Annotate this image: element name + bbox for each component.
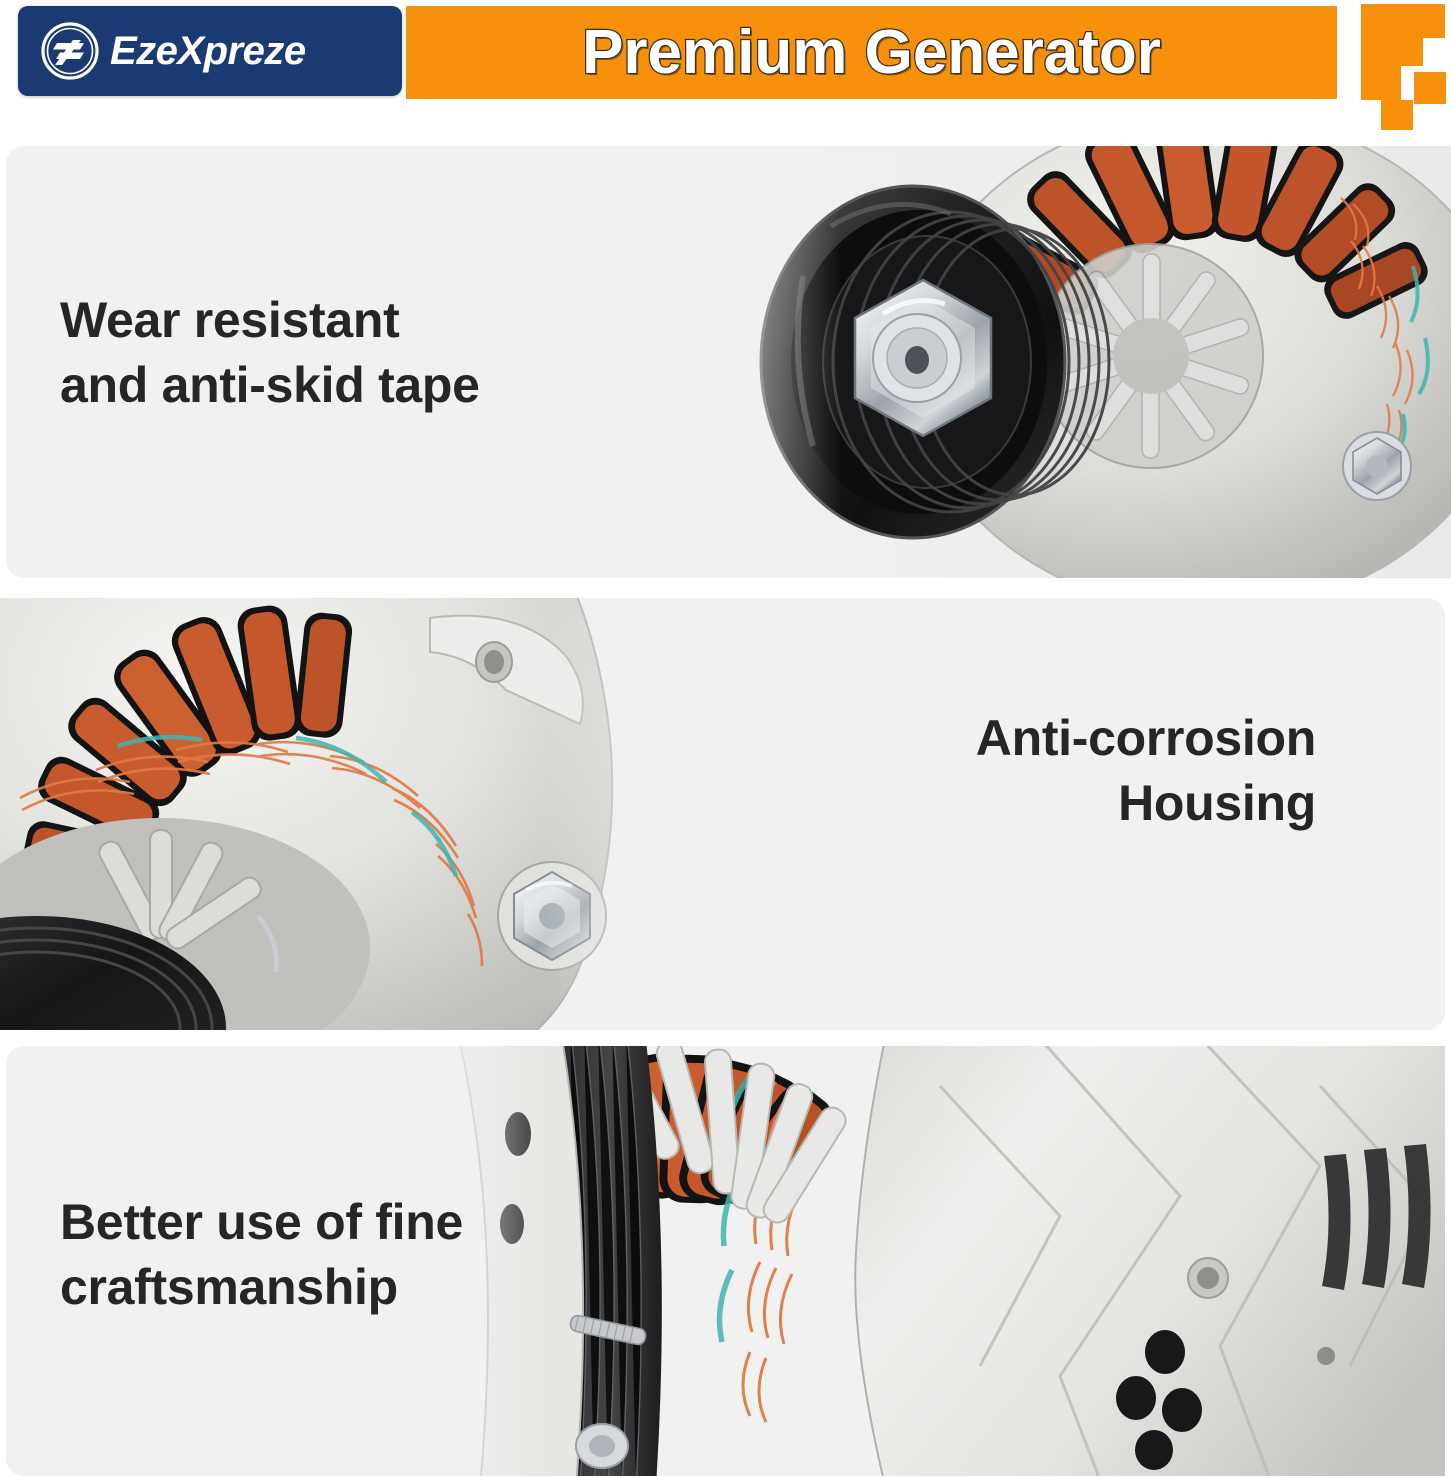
deco-block [1381,100,1413,130]
brand-logo-box: EzeXpreze [18,6,402,96]
deco-block [1361,38,1423,66]
ezexpreze-circle-z-logo-icon [40,21,100,81]
alternator-housing-closeup-photo [0,598,720,1030]
header-banner: EzeXpreze Premium Generator [0,0,1451,112]
deco-block [1361,66,1401,100]
alternator-pulley-closeup-photo [651,146,1451,578]
panel-2-caption: Anti-corrosion Housing [976,706,1316,836]
deco-block [1361,4,1445,38]
page-title: Premium Generator [582,17,1161,88]
panel-3-caption: Better use of fine craftsmanship [60,1190,463,1320]
stepped-squares-corner-decoration-icon [1339,0,1451,130]
alternator-stator-windings-photo [420,1046,1445,1476]
panel-1-caption: Wear resistant and anti-skid tape [60,288,480,418]
brand-name-text: EzeXpreze [110,29,306,74]
product-infographic-page: EzeXpreze Premium Generator [0,0,1451,1478]
title-bar: Premium Generator [406,6,1337,99]
deco-block [1414,72,1446,104]
